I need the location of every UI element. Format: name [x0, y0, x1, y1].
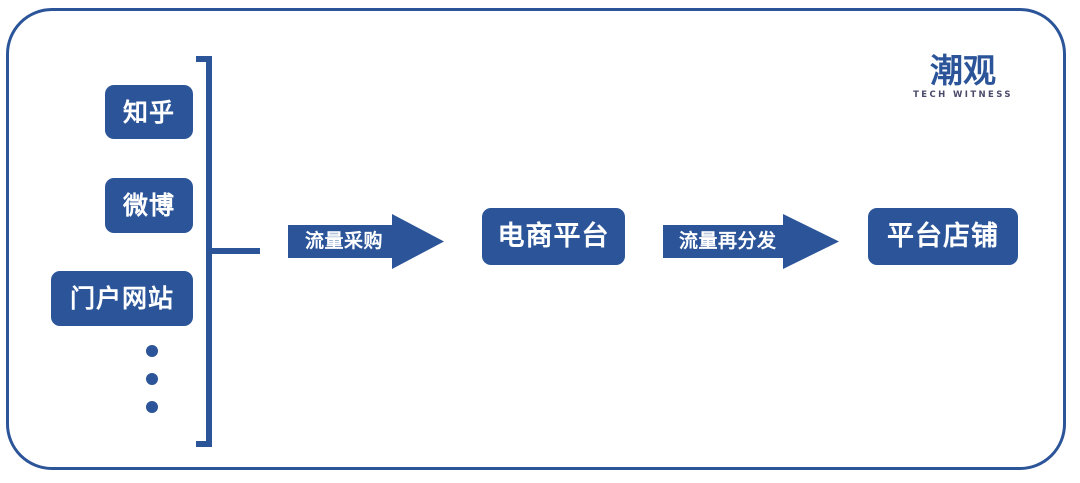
source-group-bracket: [196, 56, 260, 447]
more-sources-ellipsis: [146, 345, 160, 419]
source-node-weibo: 微博: [105, 178, 193, 233]
brand-logo-tagline: TECH WITNESS: [910, 90, 1016, 100]
source-node-portal-website: 门户网站: [51, 271, 193, 326]
flow-arrow-traffic-purchase: 流量采购: [288, 214, 444, 269]
flow-arrow-traffic-redistribution-label: 流量再分发: [679, 214, 777, 269]
brand-logo: 潮观 TECH WITNESS: [910, 54, 1016, 106]
ellipsis-dot: [146, 373, 158, 385]
node-platform-store: 平台店铺: [868, 208, 1018, 265]
flow-arrow-traffic-redistribution: 流量再分发: [663, 214, 839, 269]
brand-logo-mark: 潮观: [910, 54, 1016, 88]
ellipsis-dot: [146, 401, 158, 413]
source-node-zhihu: 知乎: [105, 85, 193, 139]
node-ecommerce-platform: 电商平台: [482, 208, 625, 265]
flow-arrow-traffic-purchase-label: 流量采购: [305, 214, 383, 269]
diagram-canvas: 知乎 微博 门户网站 流量采购 电商平台 流量再分发: [0, 0, 1080, 483]
ellipsis-dot: [146, 345, 158, 357]
